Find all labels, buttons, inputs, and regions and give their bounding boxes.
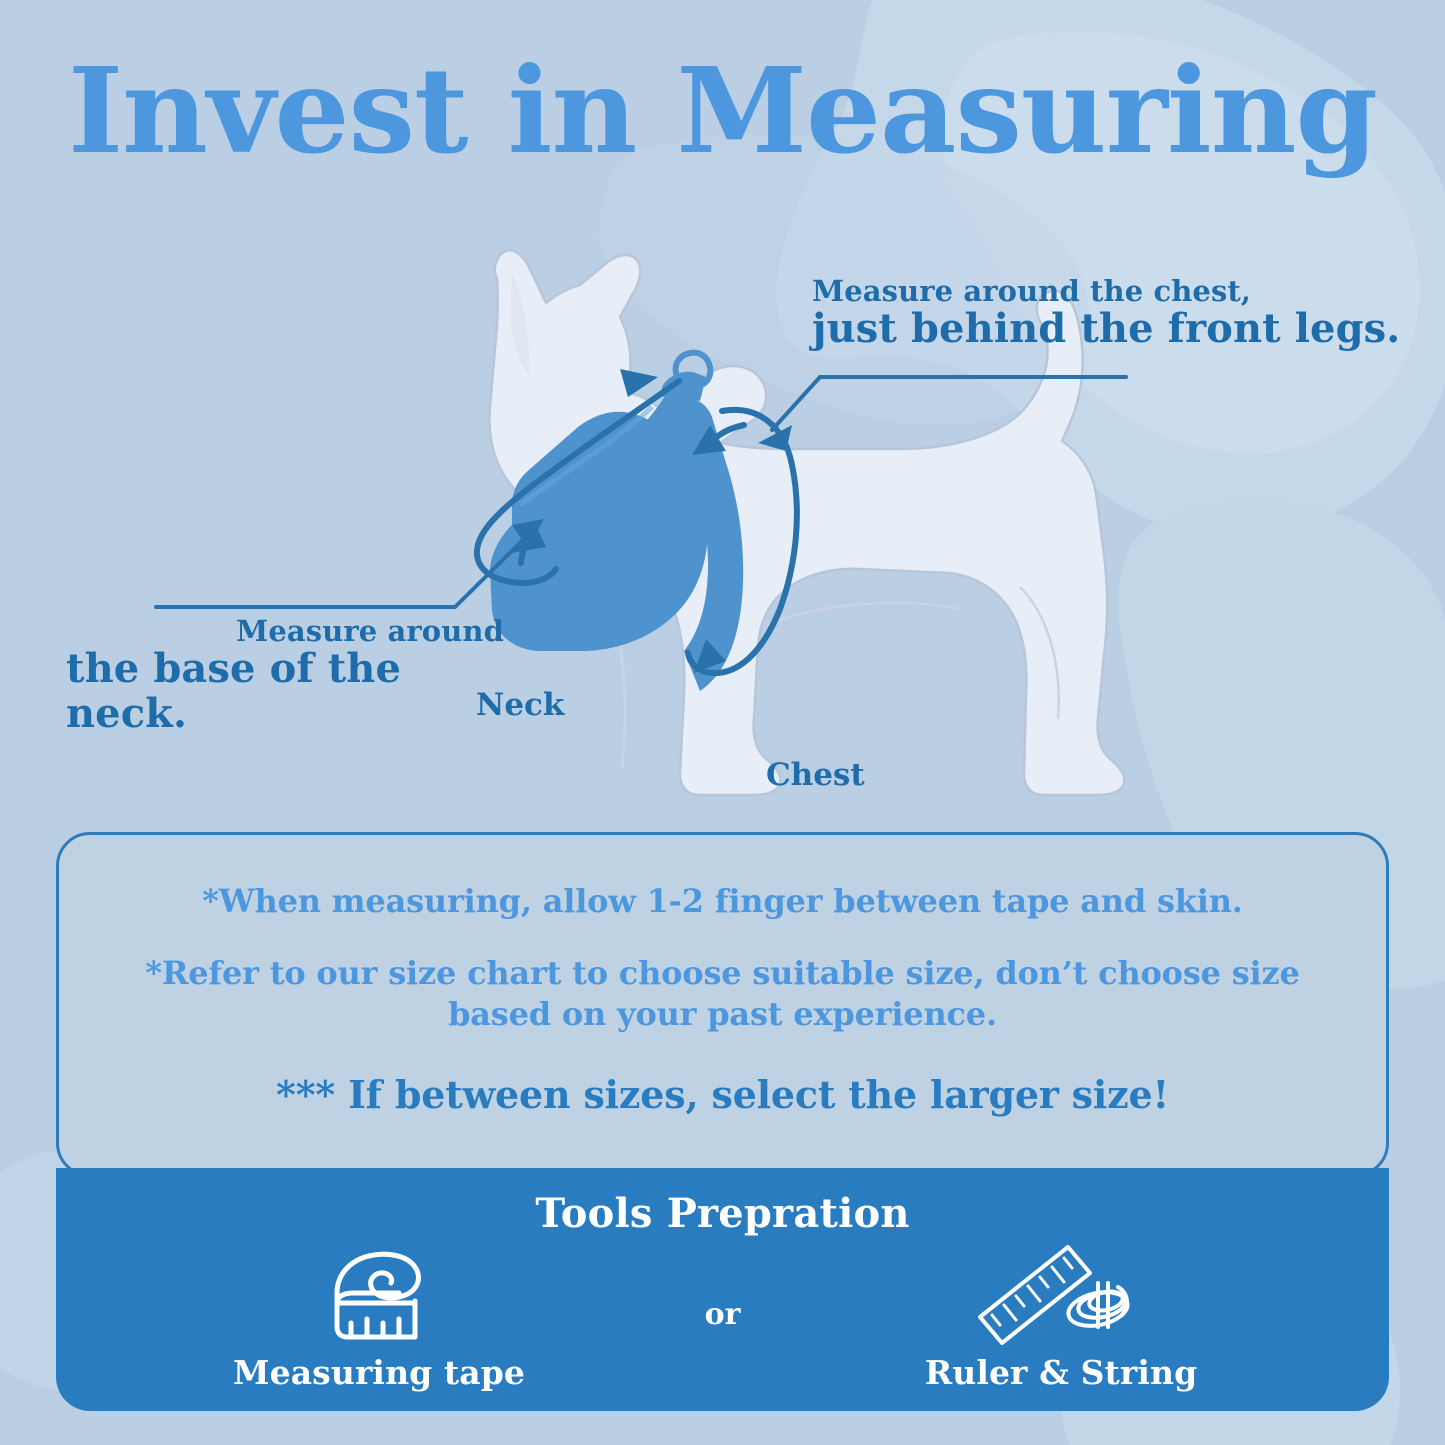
note-item: *When measuring, allow 1-2 finger betwee… (115, 881, 1330, 923)
label-chest: Chest (766, 757, 865, 793)
note-item-highlight: *** If between sizes, select the larger … (115, 1070, 1330, 1119)
chest-annotation-line2: just behind the front legs. (812, 307, 1400, 352)
dog-front-leg-seam (620, 645, 625, 769)
chest-annotation-line1: Measure around the chest, (812, 275, 1400, 307)
page-title: Invest in Measuring (0, 52, 1445, 170)
tools-title: Tools Prepration (56, 1190, 1389, 1237)
tools-row: Measuring tape or (56, 1243, 1389, 1411)
tool-label: Ruler & String (896, 1353, 1226, 1392)
note-item: *Refer to our size chart to choose suita… (115, 953, 1330, 1036)
neck-leader-line (156, 535, 528, 607)
dog-belly-seam (768, 603, 960, 625)
tools-banner: Tools Prepration (56, 1168, 1389, 1411)
notes-box: *When measuring, allow 1-2 finger betwee… (56, 832, 1389, 1177)
infographic-canvas: Invest in Measuring (0, 0, 1445, 1445)
chest-annotation: Measure around the chest, just behind th… (812, 275, 1400, 352)
neck-annotation-line2: the base of the neck. (66, 647, 506, 737)
ruler-and-string-icon (896, 1243, 1226, 1347)
neck-annotation: Measure around the base of the neck. (66, 615, 506, 737)
tool-label: Measuring tape (214, 1353, 544, 1392)
tool-ruler-and-string: Ruler & String (896, 1243, 1226, 1392)
neck-annotation-line1: Measure around (66, 615, 506, 647)
